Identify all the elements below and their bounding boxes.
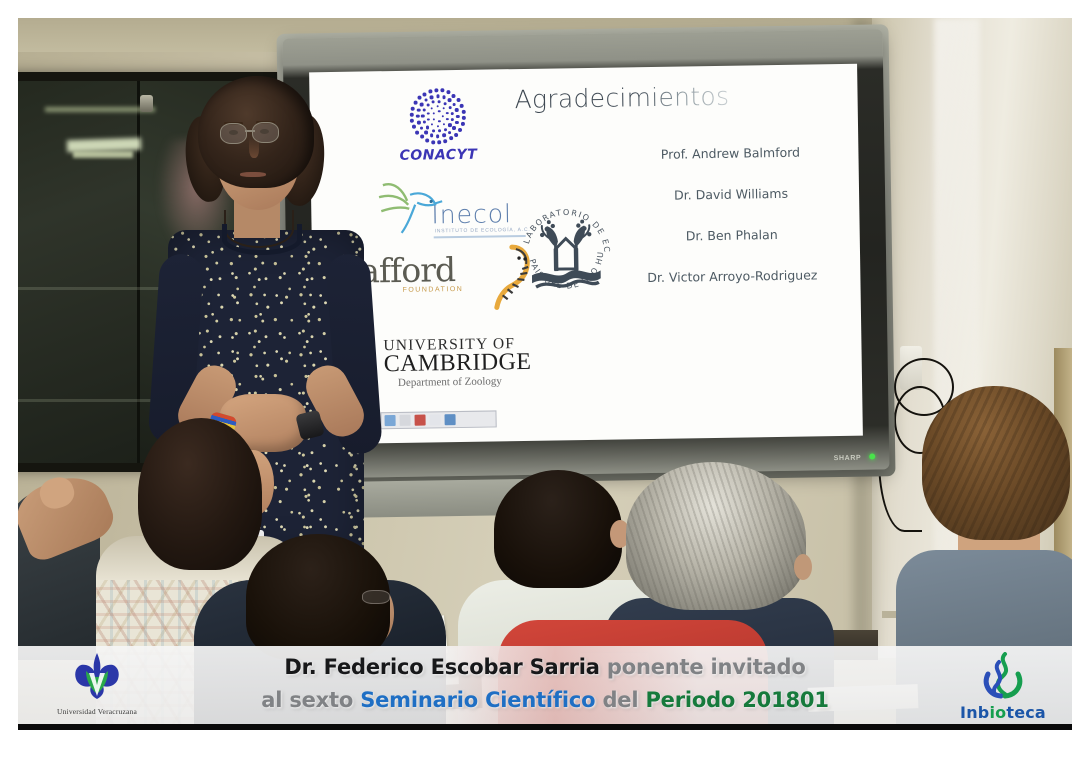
speaker-name: Dr. Federico Escobar Sarria <box>284 655 599 679</box>
photograph: Agradecimientos CONACYT <box>18 18 1072 730</box>
inbioteca-label-part3: teca <box>1006 703 1046 722</box>
grey-hair-texture <box>626 462 806 610</box>
inbioteca-logo: Inbioteca <box>948 652 1058 726</box>
event-name: Seminario Científico <box>360 688 595 712</box>
audience-woman-hair <box>138 418 262 570</box>
event-ordinal: al sexto <box>261 688 353 712</box>
audience-group <box>18 18 1072 730</box>
caption-line-1: Dr. Federico Escobar Sarria ponente invi… <box>18 651 1072 684</box>
inbioteca-label-part1: Inb <box>960 703 989 722</box>
caption-line-2: al sexto Seminario Científico del Period… <box>18 684 1072 717</box>
caption-bar: Universidad Veracruzana Dr. Federico Esc… <box>18 646 1072 730</box>
bottom-black-strip <box>18 724 1072 730</box>
audience-boy-eyeglasses <box>362 590 390 604</box>
photo-frame: Agradecimientos CONACYT <box>0 0 1090 760</box>
event-connector: del <box>602 688 638 712</box>
event-period: Periodo 201801 <box>645 688 828 712</box>
speaker-role: ponente invitado <box>607 655 806 679</box>
audience-man-hair <box>494 470 622 588</box>
right-woman-hair-texture <box>922 386 1070 540</box>
inbioteca-logo-label: Inbioteca <box>948 703 1058 722</box>
audience-grey-person-ear <box>794 554 812 580</box>
inbioteca-label-part2: io <box>989 703 1006 722</box>
caption-text-block: Dr. Federico Escobar Sarria ponente invi… <box>18 651 1072 717</box>
inbioteca-flame-icon <box>979 652 1027 700</box>
